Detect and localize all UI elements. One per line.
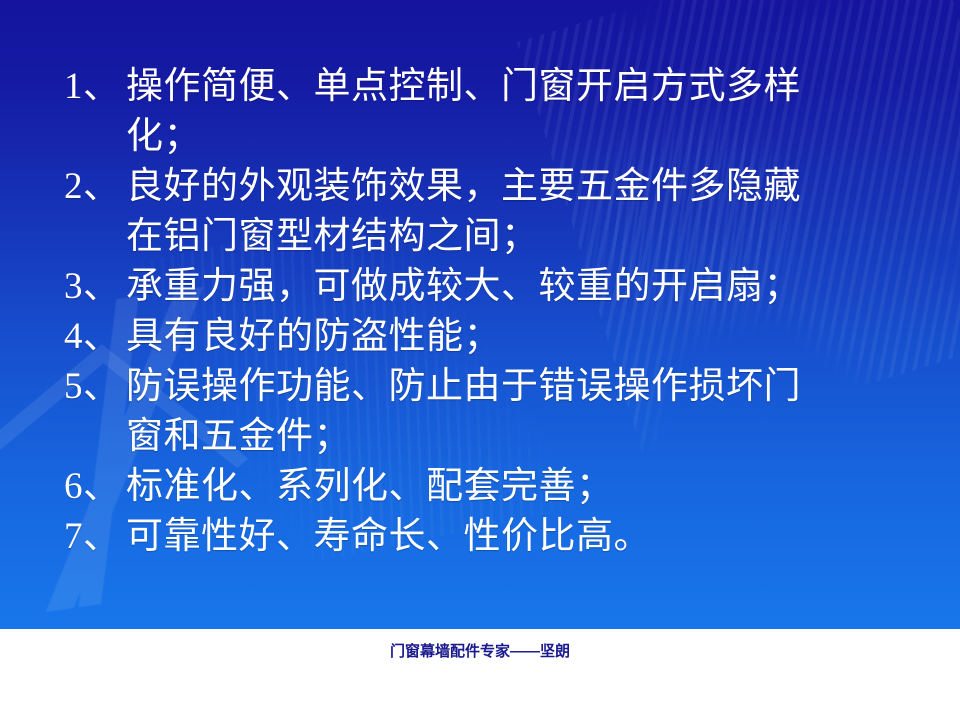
list-item-marker: 7、 (64, 512, 126, 562)
footer-tagline: 门窗幕墙配件专家——坚朗 (0, 640, 960, 661)
presentation-slide: 1、 操作简便、单点控制、门窗开启方式多样 化； 2、 良好的外观装饰效果，主要… (0, 0, 960, 720)
bullet-list: 1、 操作简便、单点控制、门窗开启方式多样 化； 2、 良好的外观装饰效果，主要… (0, 62, 960, 562)
list-item: 2、 良好的外观装饰效果，主要五金件多隐藏 在铝门窗型材结构之间； (0, 162, 960, 262)
slide-footer: 门窗幕墙配件专家——坚朗 (0, 629, 960, 720)
list-item: 1、 操作简便、单点控制、门窗开启方式多样 化； (0, 62, 960, 162)
list-item-text: 具有良好的防盗性能； (126, 312, 901, 362)
list-item-text: 良好的外观装饰效果，主要五金件多隐藏 在铝门窗型材结构之间； (126, 162, 901, 262)
list-item: 3、 承重力强，可做成较大、较重的开启扇； (0, 262, 960, 312)
list-item: 5、 防误操作功能、防止由于错误操作损坏门 窗和五金件； (0, 362, 960, 462)
list-item-text: 承重力强，可做成较大、较重的开启扇； (126, 262, 901, 312)
list-item: 7、 可靠性好、寿命长、性价比高。 (0, 512, 960, 562)
list-item-marker: 1、 (64, 62, 126, 112)
list-item-text: 标准化、系列化、配套完善； (126, 462, 901, 512)
list-item-text: 操作简便、单点控制、门窗开启方式多样 化； (126, 62, 901, 162)
list-item-marker: 2、 (64, 162, 126, 212)
list-item-marker: 5、 (64, 362, 126, 412)
list-item-marker: 4、 (64, 312, 126, 362)
list-item-text: 可靠性好、寿命长、性价比高。 (126, 512, 901, 562)
list-item: 6、 标准化、系列化、配套完善； (0, 462, 960, 512)
list-item-marker: 3、 (64, 262, 126, 312)
list-item-marker: 6、 (64, 462, 126, 512)
slide-background: 1、 操作简便、单点控制、门窗开启方式多样 化； 2、 良好的外观装饰效果，主要… (0, 0, 960, 629)
list-item: 4、 具有良好的防盗性能； (0, 312, 960, 362)
list-item-text: 防误操作功能、防止由于错误操作损坏门 窗和五金件； (126, 362, 901, 462)
